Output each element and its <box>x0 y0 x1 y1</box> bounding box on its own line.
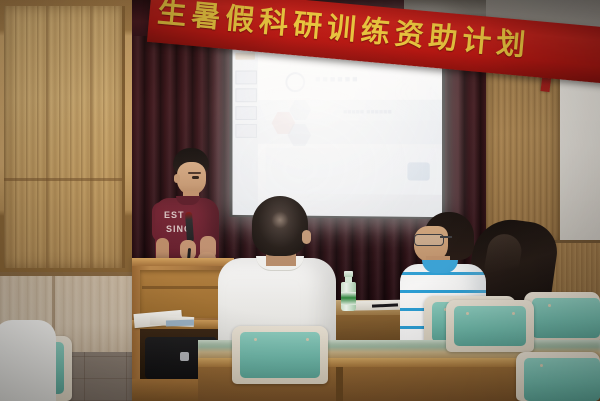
water-bottle-cap <box>344 271 353 277</box>
presenter-eyebrow <box>188 172 201 174</box>
slide-body-text: ■■■■■ ■■■■■■ <box>343 108 436 118</box>
chair-stud <box>306 338 309 341</box>
slide-logo-icon <box>285 72 305 92</box>
slide-sidebar-block <box>235 124 257 138</box>
water-bottle-label <box>341 292 356 305</box>
chair-stud <box>512 312 515 315</box>
presenter-ear <box>174 174 180 183</box>
slide-dot-graphic <box>407 162 429 180</box>
slide-sidebar-block <box>235 88 257 102</box>
shirt-text-line1: EST <box>164 210 185 220</box>
ear <box>302 230 311 244</box>
chair-seat-back <box>532 298 600 338</box>
slide-title: ■■■■■■ <box>315 74 426 87</box>
podium-groove <box>142 286 224 289</box>
table-leg <box>336 367 343 401</box>
chair-stud <box>540 364 543 367</box>
wall-seam <box>90 6 92 268</box>
chair-stud <box>254 338 257 341</box>
slide-sidebar-block <box>235 70 257 84</box>
chair-stud <box>548 304 551 307</box>
chair-seat-back <box>524 358 600 401</box>
slide-sidebar-logo <box>235 53 255 60</box>
slide-sidebar-block <box>235 106 257 120</box>
chair-seat-back <box>454 306 526 346</box>
bag-buckle-icon <box>180 352 189 361</box>
blue-folder <box>166 320 194 327</box>
hair-crown <box>270 210 290 230</box>
wall-seam <box>4 178 122 181</box>
white-shirt <box>0 320 56 401</box>
presenter-eye <box>192 176 199 179</box>
chair-stud <box>466 312 469 315</box>
wall-seam <box>46 6 48 268</box>
water-bottle-neck <box>345 276 352 283</box>
glasses-temple <box>440 236 452 238</box>
podium-front-face <box>140 270 226 318</box>
audience-left-edge-person <box>0 320 58 401</box>
photo-scene: ■■■■■■ ■■■■■ ■■■■■■ 生暑假科研训练资助计划 EST SINC <box>0 0 600 401</box>
left-wall-panel <box>4 6 125 268</box>
